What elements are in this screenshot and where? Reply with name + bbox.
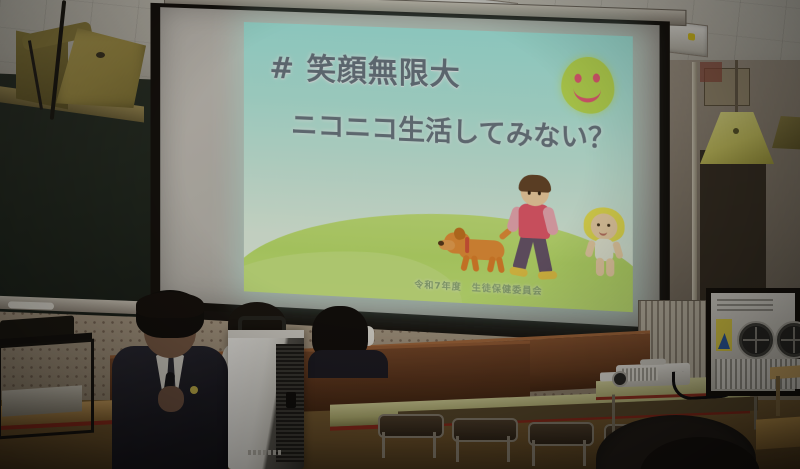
wall-poster bbox=[700, 62, 722, 82]
chair bbox=[378, 414, 440, 458]
chair bbox=[452, 418, 514, 462]
chair bbox=[528, 422, 590, 466]
projected-slide: # 笑顔無限大 ニコニコ生活してみない？ bbox=[244, 22, 633, 312]
lamp-rod bbox=[735, 60, 738, 118]
side-table-front bbox=[756, 416, 800, 449]
portable-pa-speaker bbox=[228, 330, 304, 469]
slide-hashtag-title: # 笑顔無限大 bbox=[269, 43, 600, 100]
dog-illustration-icon bbox=[444, 228, 515, 276]
uniform-badge-icon bbox=[190, 386, 198, 394]
ac-fan-left-icon bbox=[737, 321, 775, 359]
air-conditioner-unit bbox=[706, 288, 800, 396]
speaker-top-panel bbox=[228, 330, 304, 338]
classroom-presentation-scene: # 笑顔無限大 ニコニコ生活してみない？ bbox=[0, 0, 800, 469]
side-table-top bbox=[770, 365, 800, 380]
student-presenter bbox=[112, 290, 228, 469]
seated-student-right bbox=[312, 306, 386, 368]
speaker-control-panel[interactable] bbox=[286, 392, 296, 408]
projection-screen: # 笑顔無限大 ニコニコ生活してみない？ bbox=[151, 0, 670, 341]
speaker-brand-logo bbox=[248, 450, 282, 455]
ac-brand-label bbox=[717, 299, 773, 311]
side-table-leg bbox=[776, 376, 780, 416]
wall-post bbox=[692, 62, 697, 302]
smiley-face-icon bbox=[561, 56, 614, 115]
speaker-screw bbox=[96, 52, 105, 58]
ac-fan-right-icon bbox=[775, 321, 800, 359]
lamp-screw bbox=[733, 128, 739, 134]
right-wall-shadow bbox=[700, 150, 766, 300]
ac-warning-sticker bbox=[716, 319, 732, 351]
walking-person-illustration-icon bbox=[506, 177, 569, 285]
child-illustration-icon bbox=[582, 206, 627, 281]
av-equipment-cart bbox=[0, 336, 92, 432]
